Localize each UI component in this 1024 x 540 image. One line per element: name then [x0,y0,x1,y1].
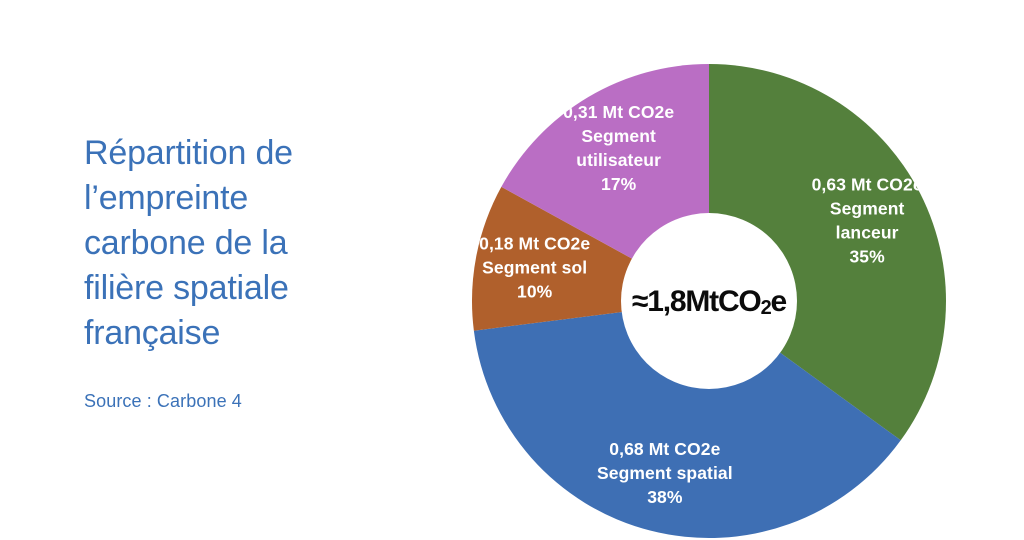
page-title: Répartition de l’empreinte carbone de la… [84,131,394,355]
donut-chart-svg: 0,63 Mt CO2eSegmentlanceur35%0,68 Mt CO2… [470,62,948,540]
text-block: Répartition de l’empreinte carbone de la… [84,131,394,412]
source-caption: Source : Carbone 4 [84,355,394,412]
slide-canvas: Répartition de l’empreinte carbone de la… [0,0,1024,540]
donut-chart: 0,63 Mt CO2eSegmentlanceur35%0,68 Mt CO2… [470,62,948,540]
